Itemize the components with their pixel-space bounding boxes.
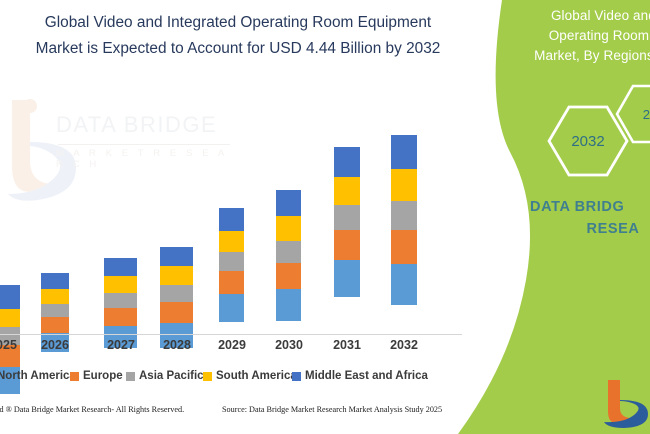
- bar-segment-south-america: [219, 231, 244, 252]
- bar-segment-middle-east-and-africa: [41, 273, 69, 289]
- chart-legend: North America Europe Asia Pacific South …: [0, 370, 470, 388]
- x-axis-line: [0, 334, 462, 335]
- bar-segment-asia-pacific: [104, 293, 137, 308]
- bar-segment-middle-east-and-africa: [219, 208, 244, 231]
- x-axis-labels: 2025 2026 2027 2028 2029 2030 2031 2032: [0, 338, 470, 358]
- legend-item-europe[interactable]: Europe: [70, 370, 123, 382]
- bar-segment-middle-east-and-africa: [334, 147, 360, 177]
- bar-segment-asia-pacific: [276, 241, 301, 263]
- bar-segment-europe: [334, 230, 360, 260]
- panel-brand-name: DATA BRIDG RESEA: [530, 196, 650, 240]
- stacked-bar-chart: [0, 84, 470, 335]
- data-bridge-b-logo: [604, 378, 650, 428]
- bar-segment-south-america: [160, 266, 193, 285]
- bar-segment-north-america: [219, 294, 244, 322]
- legend-item-north-america[interactable]: North America: [0, 370, 76, 382]
- bar-segment-middle-east-and-africa: [0, 285, 20, 309]
- legend-item-south-america[interactable]: South America: [203, 370, 297, 382]
- bar-segment-north-america: [334, 260, 360, 297]
- x-label-2031: 2031: [319, 338, 375, 352]
- legend-swatch-asia-pacific: [126, 372, 135, 381]
- bar-segment-middle-east-and-africa: [391, 135, 417, 169]
- hexagon-badge-2032[interactable]: 2032: [546, 104, 630, 178]
- panel-brand-line-1: DATA BRIDG: [530, 196, 650, 218]
- legend-swatch-middle-east-and-africa: [292, 372, 301, 381]
- panel-title-line-3: Market, By Regions, 2025: [508, 46, 650, 66]
- bar-segment-europe: [41, 317, 69, 333]
- x-label-2028: 2028: [149, 338, 205, 352]
- x-label-2027: 2027: [93, 338, 149, 352]
- x-label-2032: 2032: [376, 338, 432, 352]
- page-title-line-1: Global Video and Integrated Operating Ro…: [12, 10, 464, 36]
- bar-segment-north-america: [276, 289, 301, 321]
- bar-segment-middle-east-and-africa: [276, 190, 301, 216]
- bar-2030[interactable]: [276, 190, 301, 434]
- bar-segment-asia-pacific: [219, 252, 244, 271]
- bar-segment-europe: [219, 271, 244, 294]
- bar-segment-south-america: [41, 289, 69, 304]
- legend-label-middle-east-and-africa: Middle East and Africa: [305, 370, 428, 382]
- bar-segment-asia-pacific: [160, 285, 193, 302]
- legend-item-asia-pacific[interactable]: Asia Pacific: [126, 370, 204, 382]
- x-label-2025: 2025: [0, 338, 20, 352]
- bar-segment-south-america: [104, 276, 137, 293]
- page-title: Global Video and Integrated Operating Ro…: [12, 10, 464, 62]
- legend-swatch-europe: [70, 372, 79, 381]
- bar-segment-europe: [160, 302, 193, 323]
- bar-2031[interactable]: [334, 147, 360, 397]
- bar-segment-south-america: [276, 216, 301, 241]
- x-label-2030: 2030: [261, 338, 317, 352]
- legend-swatch-south-america: [203, 372, 212, 381]
- bar-segment-middle-east-and-africa: [104, 258, 137, 276]
- bar-segment-asia-pacific: [391, 201, 417, 230]
- infographic-canvas: DATA BRIDGE M A R K E T R E S E A R C H …: [0, 0, 650, 434]
- panel-title-line-1: Global Video and Int: [508, 6, 650, 26]
- legend-label-south-america: South America: [216, 370, 297, 382]
- page-title-line-2: Market is Expected to Account for USD 4.…: [12, 36, 464, 62]
- bar-segment-north-america: [391, 264, 417, 305]
- legend-label-europe: Europe: [83, 370, 123, 382]
- panel-title: Global Video and Int Operating Room Equ …: [508, 6, 650, 66]
- legend-label-north-america: North America: [0, 370, 76, 382]
- hexagon-2032-label: 2032: [546, 104, 630, 178]
- bar-segment-europe: [104, 308, 137, 326]
- bar-segment-south-america: [0, 309, 20, 327]
- panel-title-line-2: Operating Room Equ: [508, 26, 650, 46]
- bar-segment-asia-pacific: [41, 304, 69, 317]
- bar-segment-south-america: [334, 177, 360, 205]
- legend-label-asia-pacific: Asia Pacific: [139, 370, 204, 382]
- bar-2029[interactable]: [219, 208, 244, 434]
- panel-brand-line-2: RESEA: [530, 218, 650, 240]
- bar-segment-europe: [276, 263, 301, 289]
- bar-segment-europe: [391, 230, 417, 264]
- bar-segment-south-america: [391, 169, 417, 201]
- bar-segment-middle-east-and-africa: [160, 247, 193, 266]
- b-logo-icon: [604, 378, 650, 428]
- x-label-2026: 2026: [27, 338, 83, 352]
- legend-item-middle-east-and-africa[interactable]: Middle East and Africa: [292, 370, 428, 382]
- bar-segment-asia-pacific: [334, 205, 360, 230]
- x-label-2029: 2029: [204, 338, 260, 352]
